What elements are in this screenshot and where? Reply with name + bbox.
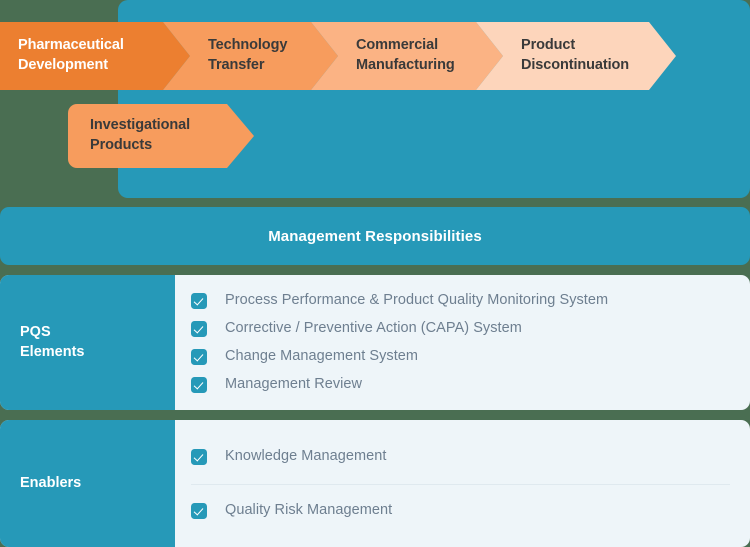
list-item[interactable]: Change Management System [191, 343, 730, 371]
checkbox-checked-icon[interactable] [191, 349, 207, 365]
checkbox-checked-icon[interactable] [191, 293, 207, 309]
section-title-pqs-elements: PQS Elements [0, 275, 175, 410]
list-item-label: Knowledge Management [225, 448, 386, 465]
lifecycle-stage-label: Product Discontinuation [521, 36, 629, 75]
lifecycle-stage-product-discontinuation[interactable]: Product Discontinuation [476, 22, 676, 90]
list-item-label: Quality Risk Management [225, 502, 392, 519]
checkbox-checked-icon[interactable] [191, 503, 207, 519]
lifecycle-stage-label: Technology Transfer [208, 36, 287, 75]
list-item-label: Management Review [225, 376, 362, 393]
section-body-enablers: Knowledge Management Quality Risk Manage… [175, 420, 750, 547]
list-item-label: Change Management System [225, 348, 418, 365]
list-item[interactable]: Process Performance & Product Quality Mo… [191, 287, 730, 315]
lifecycle-chevron-row: Pharmaceutical Development Technology Tr… [0, 22, 750, 90]
list-item[interactable]: Quality Risk Management [191, 484, 730, 538]
section-enablers: Enablers Knowledge Management Quality Ri… [0, 420, 750, 547]
list-item-label: Process Performance & Product Quality Mo… [225, 292, 608, 309]
section-title-label: Enablers [20, 474, 81, 494]
section-title-label: PQS Elements [20, 323, 84, 362]
lifecycle-substage-investigational-products[interactable]: Investigational Products [68, 104, 254, 168]
lifecycle-stage-commercial-manufacturing[interactable]: Commercial Manufacturing [311, 22, 503, 90]
management-responsibilities-title: Management Responsibilities [268, 228, 482, 245]
list-item[interactable]: Knowledge Management [191, 430, 730, 484]
lifecycle-substage-label: Investigational Products [90, 116, 190, 155]
section-body-pqs-elements: Process Performance & Product Quality Mo… [175, 275, 750, 410]
section-pqs-elements: PQS Elements Process Performance & Produ… [0, 275, 750, 410]
lifecycle-stage-pharmaceutical-development[interactable]: Pharmaceutical Development [0, 22, 190, 90]
lifecycle-stage-label: Pharmaceutical Development [18, 36, 124, 75]
checkbox-checked-icon[interactable] [191, 377, 207, 393]
list-item[interactable]: Corrective / Preventive Action (CAPA) Sy… [191, 315, 730, 343]
checkbox-checked-icon[interactable] [191, 449, 207, 465]
list-item-label: Corrective / Preventive Action (CAPA) Sy… [225, 320, 522, 337]
management-responsibilities-bar[interactable]: Management Responsibilities [0, 207, 750, 265]
list-item[interactable]: Management Review [191, 371, 730, 399]
checkbox-checked-icon[interactable] [191, 321, 207, 337]
section-title-enablers: Enablers [0, 420, 175, 547]
lifecycle-stage-label: Commercial Manufacturing [356, 36, 455, 75]
